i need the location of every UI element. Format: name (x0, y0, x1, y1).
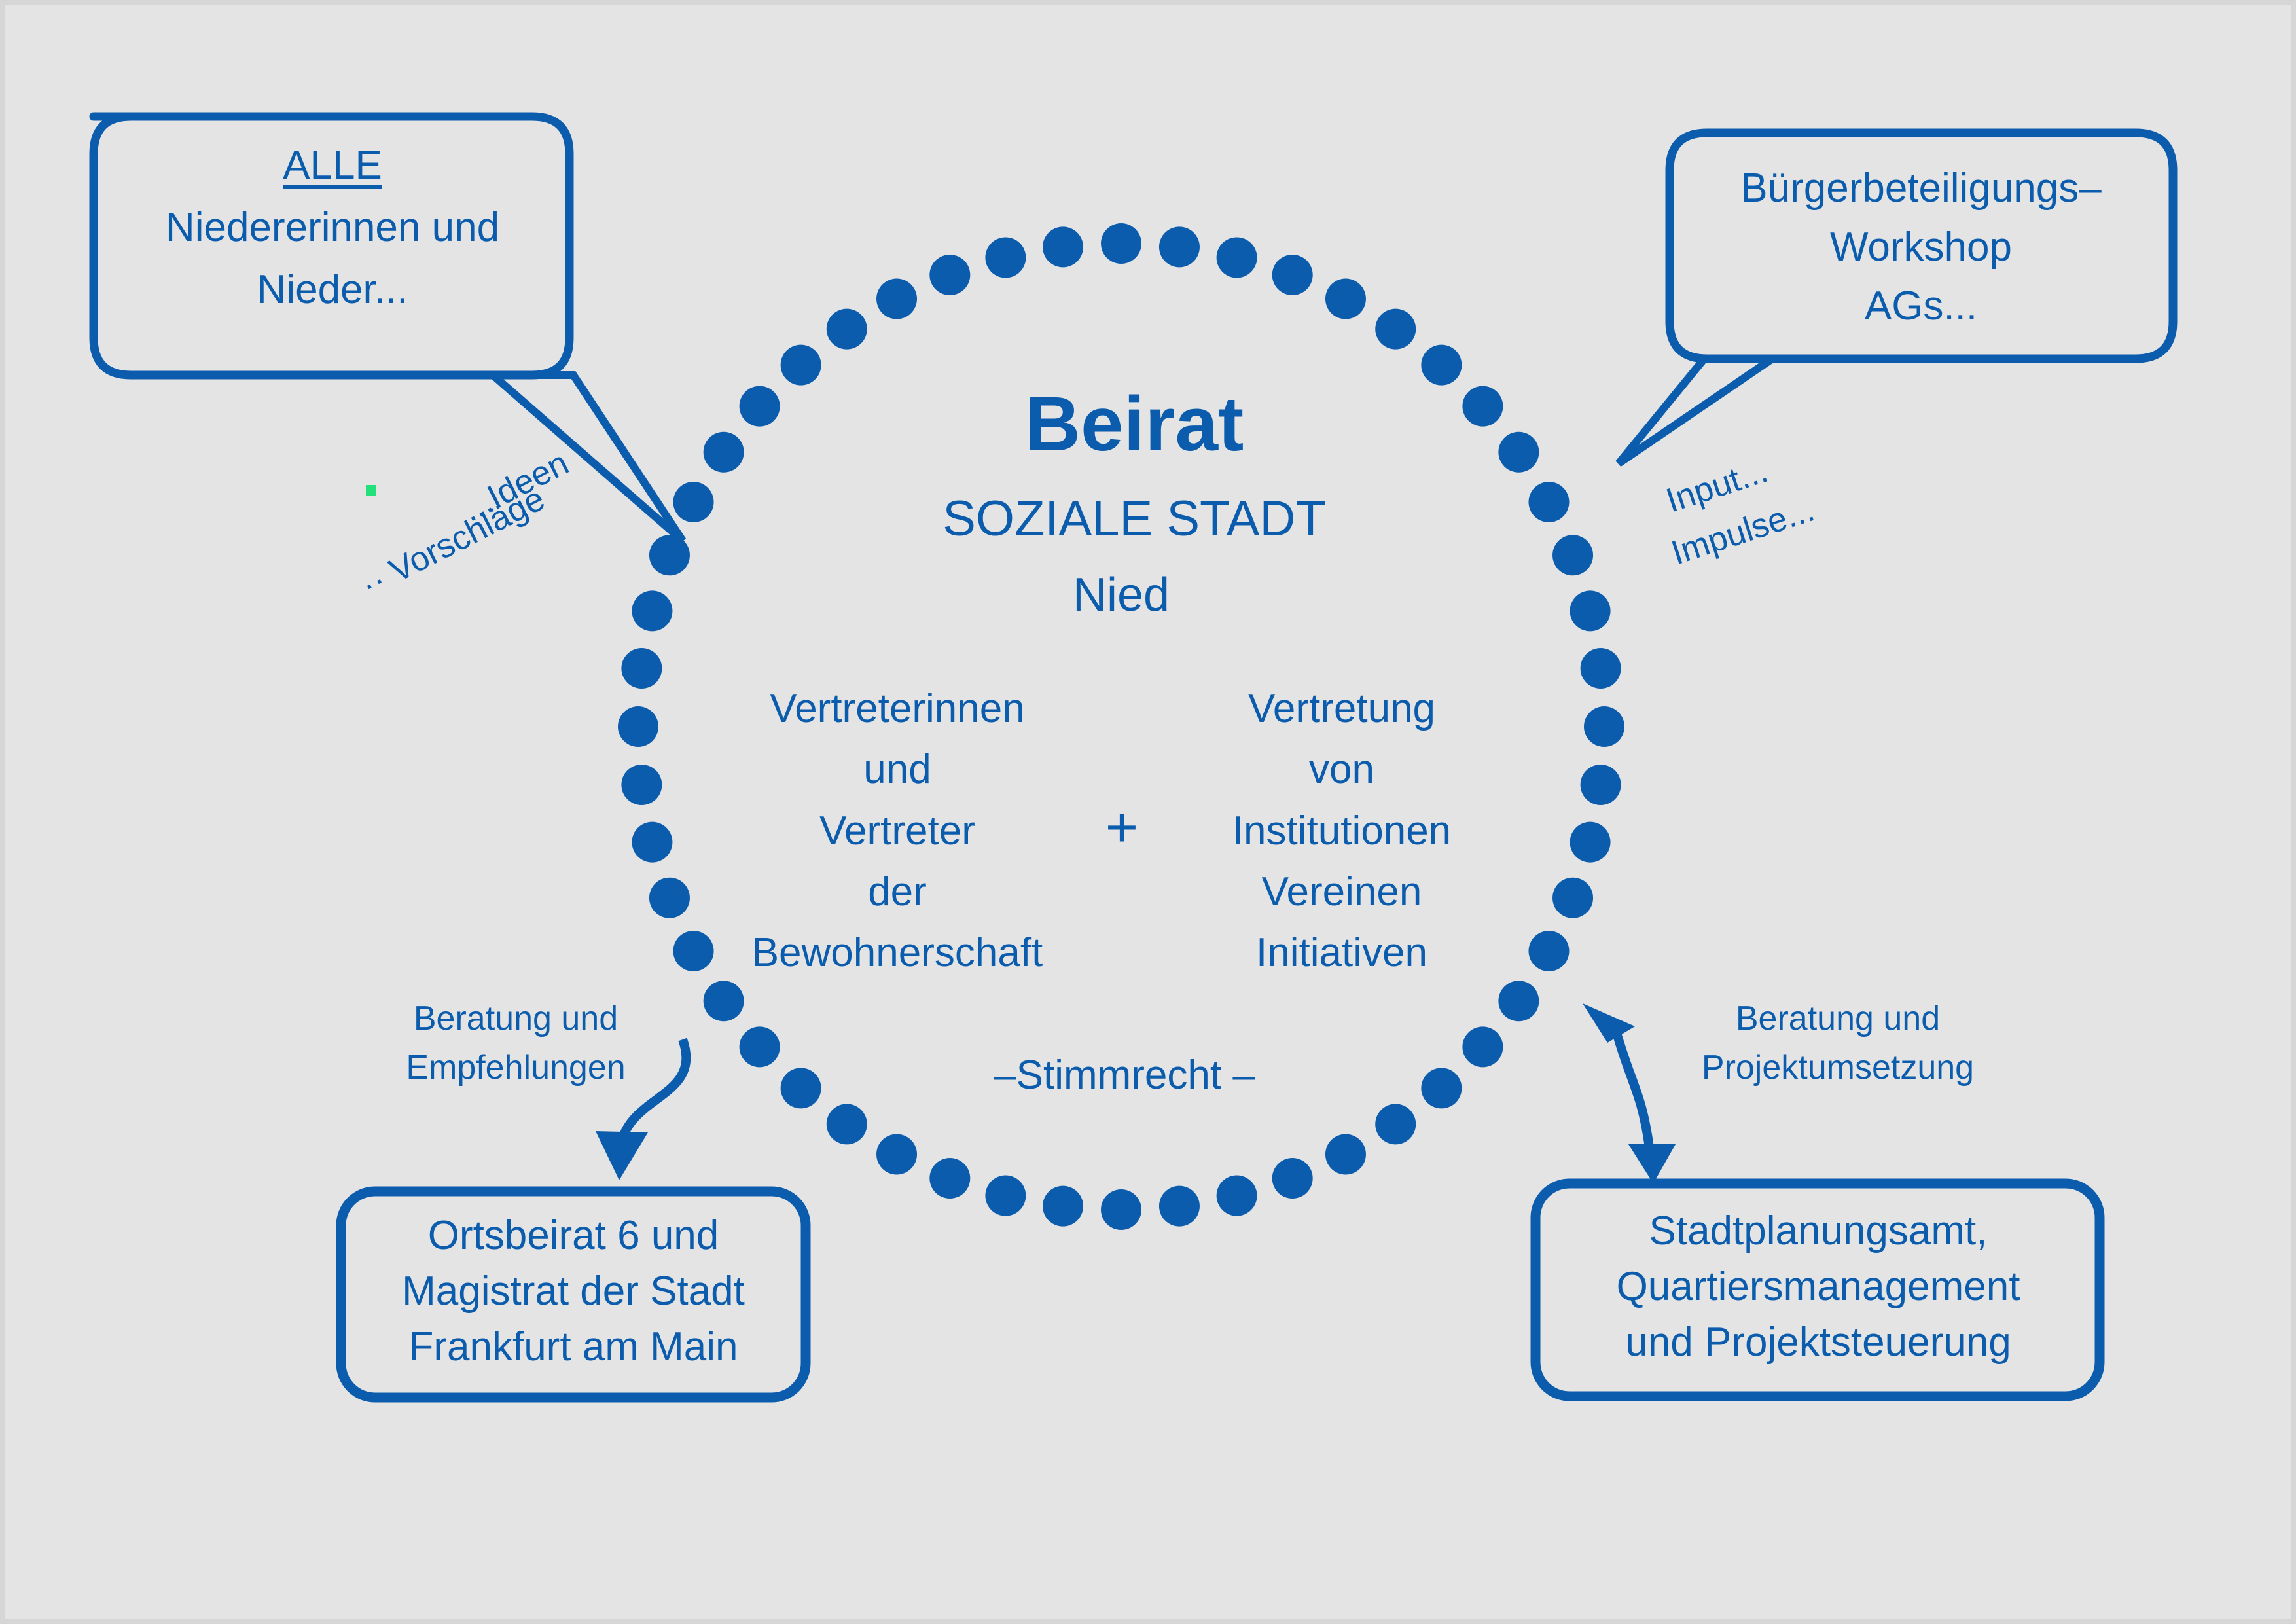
plus-operator: + (1105, 796, 1138, 859)
stimmrecht-note: –Stimmrecht – (994, 1053, 1255, 1098)
bubble-left-line-3: Nieder... (257, 267, 408, 312)
rotated-label-input-group: Input... Impulse... (1662, 452, 1819, 572)
ring-dot (1552, 878, 1593, 918)
ring-dot (673, 931, 714, 971)
left-col-line-5: Bewohnerschaft (752, 930, 1043, 975)
box-left-line-1: Ortsbeirat 6 und (428, 1213, 719, 1258)
ring-dot (1498, 981, 1539, 1021)
ring-dot (740, 386, 780, 427)
arrow-left-head (596, 1131, 648, 1180)
ring-dot (1421, 1068, 1462, 1108)
box-left-line-2: Magistrat der Stadt (402, 1269, 745, 1314)
box-bottom-right[interactable]: Stadtplanungsamt, Quartiersmanagement un… (1535, 1183, 2100, 1396)
center-subtitle-2: Nied (1073, 569, 1170, 621)
right-col-line-2: von (1309, 747, 1374, 792)
right-col-line-3: Institutionen (1232, 808, 1451, 854)
bubble-right-line-3: AGs... (1865, 283, 1977, 329)
ring-dot (876, 279, 917, 319)
ring-dot (1375, 309, 1416, 350)
center-right-column: Vertretung von Institutionen Vereinen In… (1232, 686, 1451, 975)
ring-dot (704, 981, 744, 1021)
right-col-line-5: Initiativen (1256, 930, 1427, 975)
ring-dot (1528, 931, 1569, 971)
ring-dot (781, 1068, 821, 1108)
ring-dot (1159, 226, 1200, 267)
left-col-line-1: Vertreterinnen (770, 686, 1024, 731)
ring-dot (1375, 1104, 1416, 1144)
rotated-label-ideen-group: ...Ideen ·· Vorschläge (355, 444, 575, 604)
arrow-left-label-1: Beratung und (414, 1000, 618, 1038)
ring-dot (1498, 432, 1539, 473)
ring-dot (1043, 226, 1083, 267)
ring-dot (621, 765, 662, 805)
arrow-right-curve (1617, 1033, 1649, 1147)
arrow-left-group: Beratung und Empfehlungen (406, 1000, 686, 1180)
diagram-canvas: Beirat SOZIALE STADT Nied Vertreterinnen… (0, 0, 2296, 1624)
ring-dot (632, 822, 672, 863)
box-right-line-3: und Projektsteuerung (1625, 1320, 2011, 1365)
ring-dot (1272, 1158, 1313, 1199)
ring-dot (1325, 279, 1366, 319)
center-left-column: Vertreterinnen und Vertreter der Bewohne… (752, 686, 1043, 975)
center-subtitle: SOZIALE STADT (942, 491, 1326, 547)
ring-dot (985, 237, 1026, 278)
ring-dot (1581, 765, 1621, 805)
ring-dot (1421, 345, 1462, 386)
ring-dot (740, 1026, 780, 1067)
ring-dot (1101, 223, 1141, 264)
arrow-right-label-2: Projektumsetzung (1702, 1049, 1974, 1087)
ring-dot (1043, 1186, 1083, 1227)
arrow-right-head-up (1583, 1003, 1635, 1043)
arrow-left-curve (622, 1039, 686, 1141)
speech-bubble-top-right[interactable]: Bürgerbeteiligungs– Workshop AGs... (1619, 133, 2173, 463)
ring-dot (781, 345, 821, 386)
ring-dot (827, 309, 867, 350)
left-col-line-3: Vertreter (819, 808, 975, 854)
speech-bubble-top-left[interactable]: ALLE Niedererinnen und Nieder... (94, 117, 683, 541)
ring-dot (1581, 648, 1621, 689)
box-left-line-3: Frankfurt am Main (408, 1324, 738, 1369)
ring-dot (649, 878, 690, 918)
ring-dot (929, 255, 970, 295)
arrow-left-label-2: Empfehlungen (406, 1049, 625, 1087)
label-vorschlaege: ·· Vorschläge (355, 480, 550, 605)
ring-dot (1159, 1186, 1200, 1227)
ring-dot (618, 706, 658, 747)
center-title: Beirat (1025, 381, 1244, 467)
green-marker-dot (366, 485, 376, 496)
bubble-left-line-2: Niedererinnen und (166, 205, 499, 250)
ring-dot (827, 1104, 867, 1144)
bubble-tail-right (1619, 359, 1772, 463)
ring-dot (985, 1176, 1026, 1216)
ring-dot (1272, 255, 1313, 295)
ring-dot (632, 590, 672, 631)
bubble-right-line-1: Bürgerbeteiligungs– (1740, 166, 2102, 211)
box-right-line-2: Quartiersmanagement (1617, 1264, 2020, 1309)
ring-dot (929, 1158, 970, 1199)
bubble-left-line-1: ALLE (283, 143, 382, 188)
right-col-line-1: Vertretung (1248, 686, 1435, 731)
ring-dot (1462, 1026, 1503, 1067)
box-bottom-left[interactable]: Ortsbeirat 6 und Magistrat der Stadt Fra… (341, 1191, 806, 1398)
ring-dot (1101, 1189, 1141, 1230)
arrow-right-label-1: Beratung und (1736, 1000, 1940, 1038)
right-col-line-4: Vereinen (1262, 869, 1422, 914)
ring-dot (621, 648, 662, 689)
ring-dot (1570, 590, 1611, 631)
ring-dot (673, 482, 714, 522)
ring-dot (649, 535, 690, 575)
arrow-right-head-down (1628, 1144, 1676, 1183)
ring-dot (1552, 535, 1593, 575)
ring-dot (1528, 482, 1569, 522)
ring-dot (1325, 1134, 1366, 1174)
ring-dot (1217, 1176, 1257, 1216)
arrow-right-group: Beratung und Projektumsetzung (1583, 1000, 1974, 1183)
ring-dot (876, 1134, 917, 1174)
left-col-line-4: der (868, 869, 927, 914)
ring-dot (704, 432, 744, 473)
ring-dot (1584, 706, 1624, 747)
box-right-line-1: Stadtplanungsamt, (1649, 1208, 1987, 1254)
ring-dot (1570, 822, 1611, 863)
diagram-svg: Beirat SOZIALE STADT Nied Vertreterinnen… (5, 5, 2296, 1624)
center-content: Beirat SOZIALE STADT Nied Vertreterinnen… (752, 381, 1451, 1098)
bubble-right-line-2: Workshop (1830, 225, 2012, 270)
left-col-line-2: und (863, 747, 931, 792)
ring-dot (1462, 386, 1503, 427)
ring-dot (1217, 237, 1257, 278)
